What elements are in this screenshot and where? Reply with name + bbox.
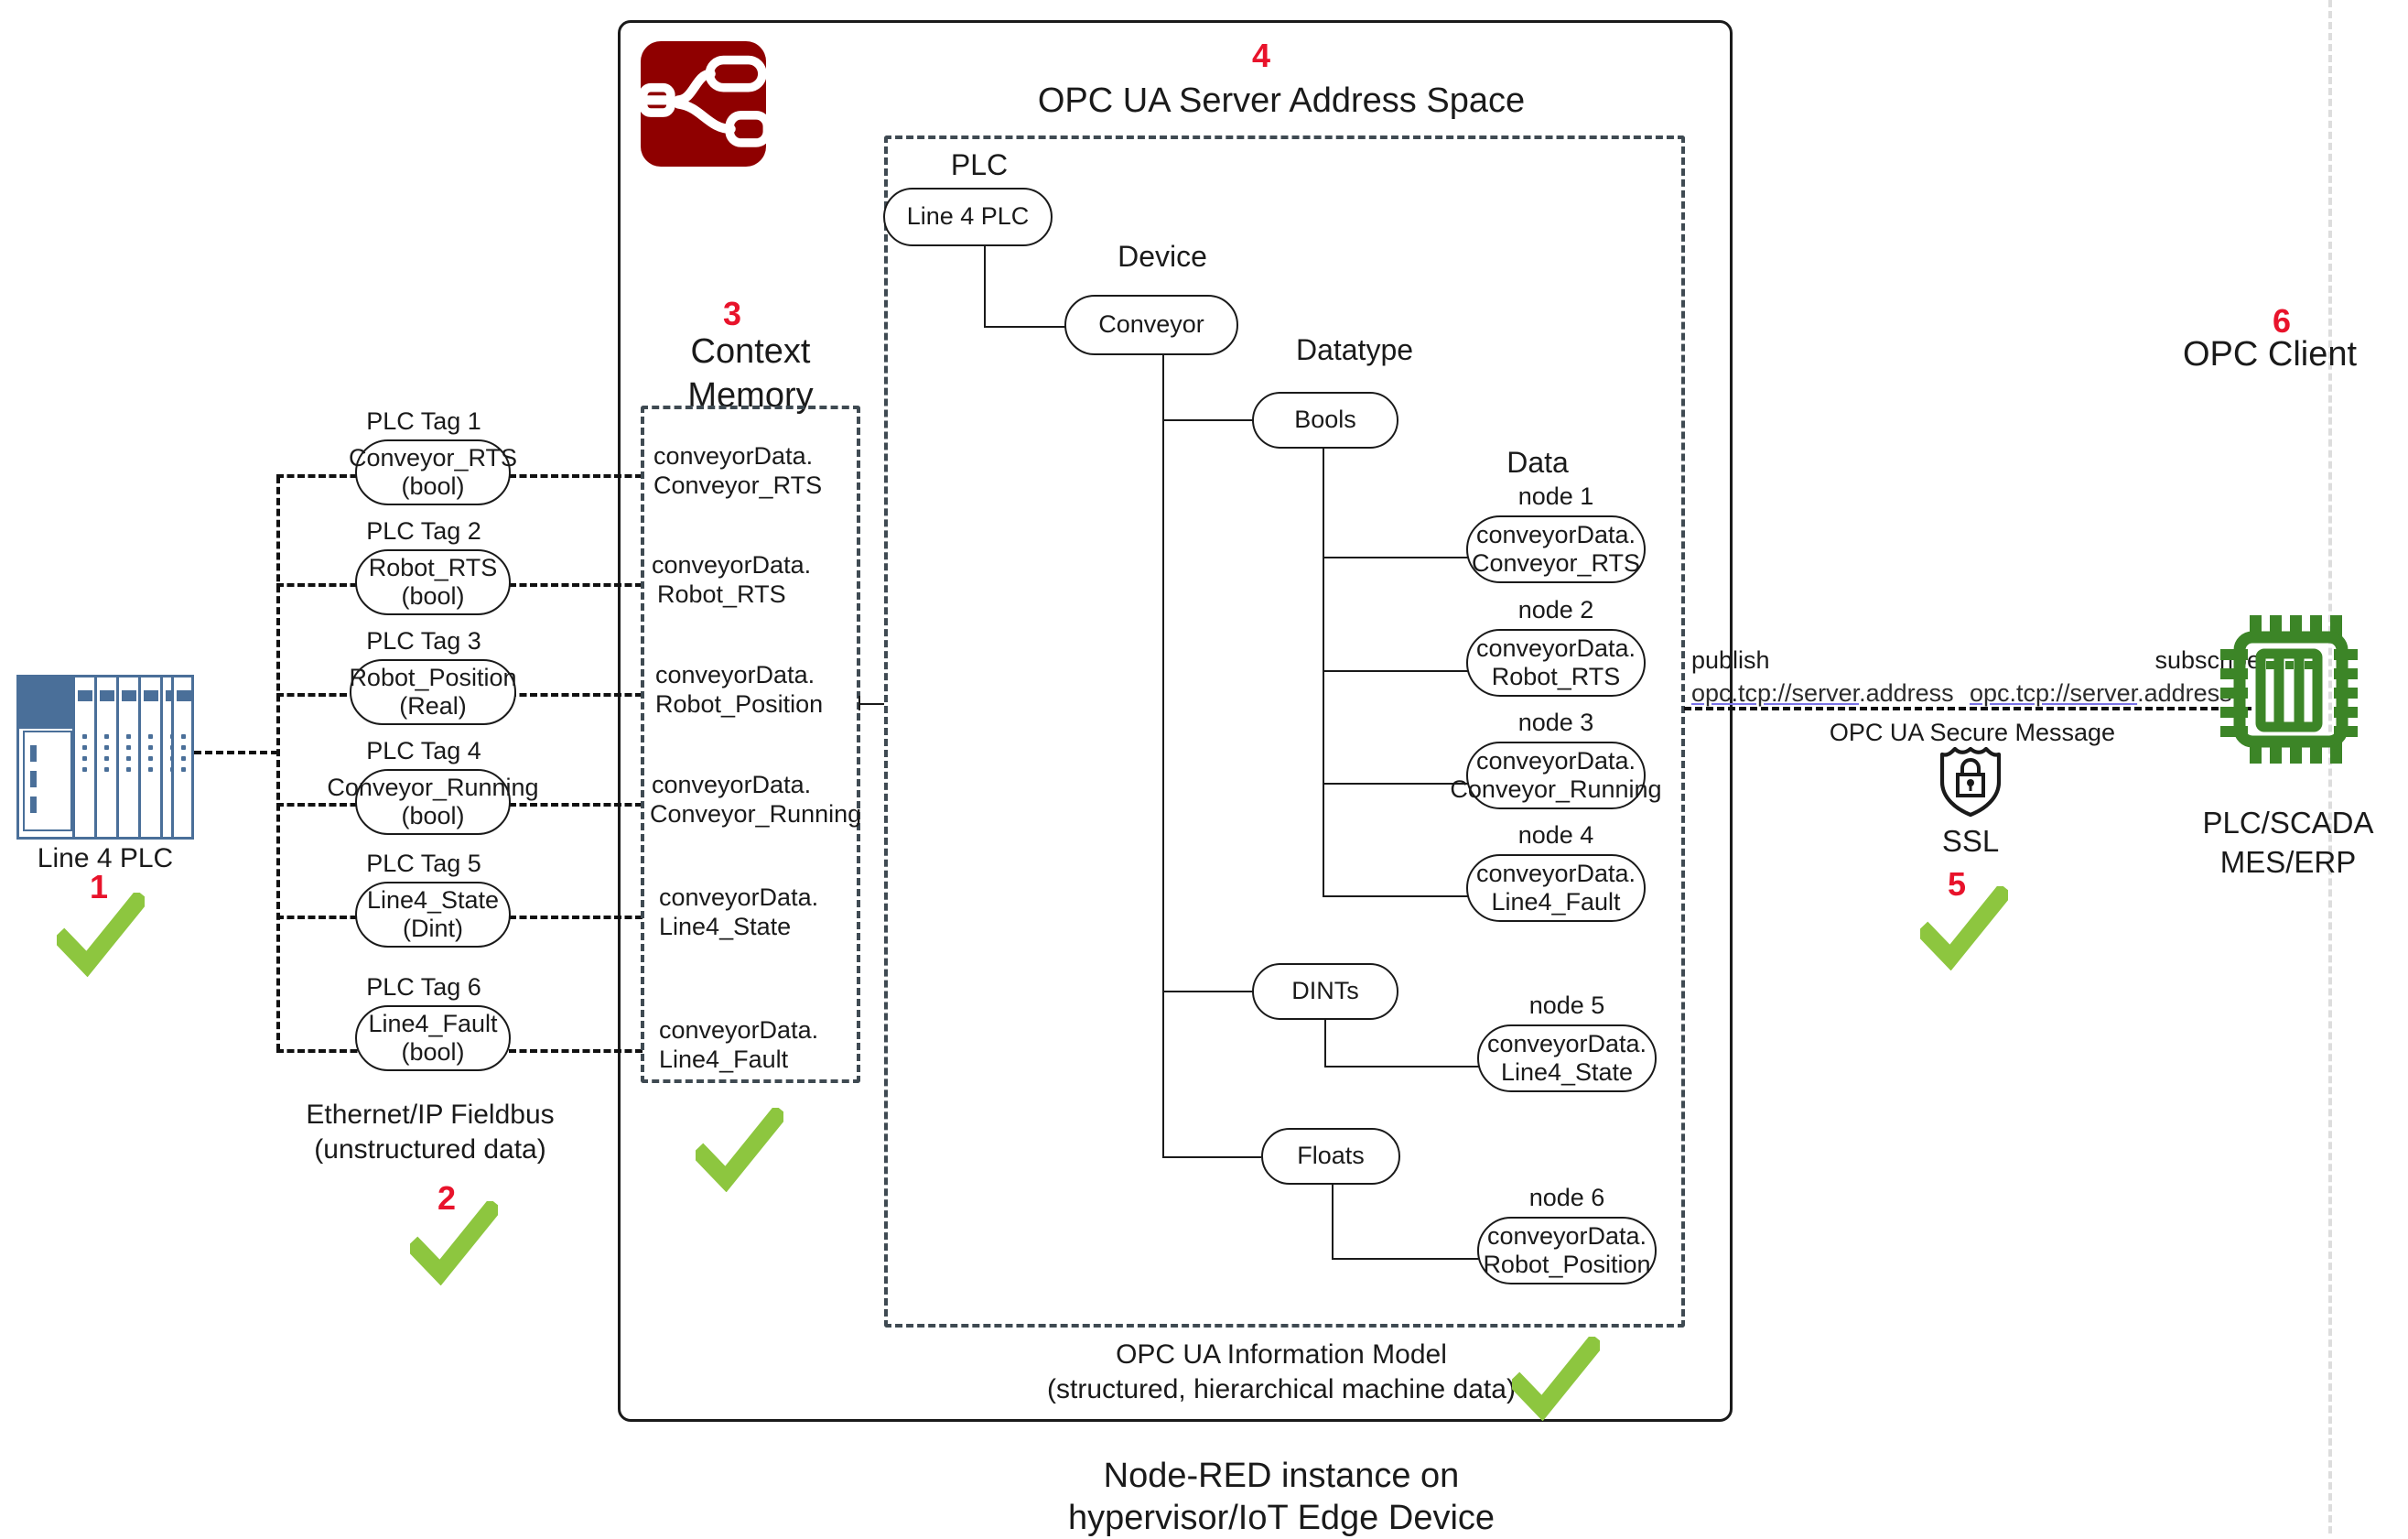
addr-node-plc[interactable]: Line 4 PLC	[883, 188, 1053, 246]
ctx-entry-2-line1: conveyorData.	[641, 551, 866, 580]
node-red-logo	[641, 41, 766, 167]
level-label-data: Data	[1455, 446, 1620, 481]
fieldbus-branch-1	[276, 474, 368, 478]
plc-tag-2-type: (bool)	[401, 582, 464, 611]
plc-tag-6-type: (bool)	[401, 1038, 464, 1067]
container-caption-line1: Node-RED instance on	[915, 1456, 1647, 1497]
plc-to-device-vline	[984, 246, 986, 327]
ctx-entry-5-line2: Line4_State	[641, 913, 873, 942]
subscribe-url[interactable]: opc.tcp://server.address	[1970, 679, 2262, 709]
tag5-to-ctx-line	[509, 916, 642, 919]
data-node-3-line1: conveyorData.	[1476, 747, 1636, 775]
ctx-to-addrspace-tick	[858, 696, 860, 710]
step-number-3: 3	[723, 295, 741, 333]
data-node-1-line1: conveyorData.	[1476, 521, 1636, 549]
plc-to-bus-line	[194, 751, 278, 754]
plc-tag-5-name: Line4_State	[367, 886, 499, 915]
publish-url-tail: .address	[1859, 679, 1954, 707]
address-space-title: OPC UA Server Address Space	[915, 81, 1647, 122]
plc-tag-2-node[interactable]: Robot_RTS (bool)	[355, 549, 511, 615]
subscribe-url-tail: .address	[2137, 679, 2232, 707]
tag1-to-ctx-line	[509, 474, 642, 478]
plc-tag-6-name: Line4_Fault	[368, 1010, 497, 1038]
dints-vline	[1324, 1020, 1326, 1068]
data-node-5-line1: conveyorData.	[1487, 1030, 1647, 1058]
data-node-2-line2: Robot_RTS	[1492, 663, 1621, 691]
plc-tag-4-name: Conveyor_Running	[327, 774, 538, 802]
addr-node-floats[interactable]: Floats	[1261, 1128, 1400, 1185]
client-caption-line2: MES/ERP	[2160, 845, 2408, 881]
ctx-entry-1-line1: conveyorData.	[641, 442, 868, 471]
ctx-entry-6-line2: Line4_Fault	[641, 1046, 873, 1075]
addr-node-bools[interactable]: Bools	[1252, 392, 1398, 449]
check-mark-3	[696, 1108, 783, 1197]
check-mark-2	[410, 1201, 498, 1290]
bools-trunk-vline	[1323, 449, 1324, 897]
ssl-label: SSL	[1893, 824, 2048, 860]
fieldbus-trunk	[276, 476, 280, 1051]
bools-to-node1-hline	[1323, 557, 1469, 558]
client-caption-line1: PLC/SCADA	[2160, 806, 2408, 841]
plc-tag-4-node[interactable]: Conveyor_Running (bool)	[355, 769, 511, 835]
plc-rack-icon	[16, 675, 194, 840]
data-node-3-line2: Conveyor_Running	[1450, 775, 1661, 804]
publish-url-link: opc.tcp://server	[1691, 679, 1859, 707]
ssl-shield-lock-icon	[1937, 742, 2004, 818]
addr-node-device[interactable]: Conveyor	[1064, 295, 1238, 355]
plc-tag-2-name: Robot_RTS	[369, 554, 498, 582]
data-node-6-caption: node 6	[1475, 1184, 1658, 1213]
data-node-4-caption: node 4	[1464, 821, 1647, 851]
ctx-entry-3-line1: conveyorData.	[641, 661, 869, 690]
plc-tag-3-node[interactable]: Robot_Position (Real)	[350, 659, 516, 725]
check-mark-5	[1920, 886, 2008, 975]
publish-label: publish	[1691, 646, 1874, 676]
data-node-3[interactable]: conveyorData. Conveyor_Running	[1466, 742, 1646, 809]
fieldbus-caption-line2: (unstructured data)	[275, 1133, 586, 1165]
opc-client-title: OPC Client	[2133, 334, 2407, 375]
fieldbus-branch-6	[276, 1049, 368, 1053]
data-node-2-line1: conveyorData.	[1476, 634, 1636, 663]
step-number-4: 4	[1252, 37, 1270, 75]
bools-to-node3-hline	[1323, 783, 1469, 785]
cpu-chip-icon	[2220, 615, 2358, 764]
ctx-entry-6-line1: conveyorData.	[641, 1016, 873, 1046]
addr-node-dints[interactable]: DINTs	[1252, 963, 1398, 1020]
bools-to-node4-hline	[1323, 895, 1469, 897]
plc-tag-5-type: (Dint)	[403, 915, 463, 943]
plc-tag-4-caption: PLC Tag 4	[339, 737, 509, 766]
ctx-to-addrspace-line	[858, 703, 884, 705]
data-node-1-line2: Conveyor_RTS	[1472, 549, 1640, 578]
fieldbus-branch-4	[276, 803, 368, 807]
tag3-to-ctx-line	[509, 693, 642, 697]
data-node-6[interactable]: conveyorData. Robot_Position	[1477, 1217, 1657, 1284]
data-node-3-caption: node 3	[1464, 709, 1647, 738]
device-trunk-vline	[1162, 355, 1164, 1157]
data-node-5-caption: node 5	[1475, 992, 1658, 1021]
plc-tag-5-node[interactable]: Line4_State (Dint)	[355, 882, 511, 948]
check-mark-1	[57, 893, 145, 981]
level-label-datatype: Datatype	[1263, 333, 1446, 368]
fieldbus-branch-2	[276, 583, 368, 587]
tag2-to-ctx-line	[509, 583, 642, 587]
page-edge-divider	[2328, 0, 2332, 1534]
dints-to-node5-hline	[1324, 1066, 1480, 1068]
data-node-6-line2: Robot_Position	[1483, 1251, 1650, 1279]
ctx-entry-2-line2: Robot_RTS	[641, 580, 871, 610]
plc-tag-5-caption: PLC Tag 5	[339, 850, 509, 879]
plc-tag-2-caption: PLC Tag 2	[339, 517, 509, 547]
plc-tag-1-node[interactable]: Conveyor_RTS (bool)	[355, 439, 511, 505]
data-node-1[interactable]: conveyorData. Conveyor_RTS	[1466, 515, 1646, 583]
plc-tag-1-caption: PLC Tag 1	[339, 407, 509, 437]
ctx-entry-5-line1: conveyorData.	[641, 883, 873, 913]
data-node-1-caption: node 1	[1464, 482, 1647, 512]
plc-tag-4-type: (bool)	[401, 802, 464, 830]
ctx-entry-1-line2: Conveyor_RTS	[641, 471, 868, 501]
floats-to-node6-hline	[1332, 1258, 1480, 1260]
plc-tag-6-node[interactable]: Line4_Fault (bool)	[355, 1005, 511, 1071]
fieldbus-caption-line1: Ethernet/IP Fieldbus	[275, 1099, 586, 1131]
device-to-bools-hline	[1162, 419, 1254, 421]
plc-tag-6-caption: PLC Tag 6	[339, 973, 509, 1003]
bools-to-node2-hline	[1323, 670, 1469, 672]
context-memory-title-line1: Context	[641, 331, 860, 373]
data-node-5-line2: Line4_State	[1501, 1058, 1633, 1087]
device-to-dints-hline	[1162, 991, 1254, 992]
data-node-5[interactable]: conveyorData. Line4_State	[1477, 1024, 1657, 1092]
publish-url[interactable]: opc.tcp://server.address	[1691, 679, 1984, 709]
plc-tag-1-type: (bool)	[401, 472, 464, 501]
floats-vline	[1332, 1185, 1334, 1260]
tag6-to-ctx-line	[509, 1049, 642, 1053]
plc-tag-1-name: Conveyor_RTS	[349, 444, 517, 472]
plc-to-device-hline	[984, 326, 1066, 328]
data-node-6-line1: conveyorData.	[1487, 1222, 1647, 1251]
check-mark-4	[1512, 1337, 1600, 1425]
data-node-2-caption: node 2	[1464, 596, 1647, 625]
ctx-entry-4-line1: conveyorData.	[641, 771, 871, 800]
subscribe-url-link: opc.tcp://server	[1970, 679, 2137, 707]
fieldbus-branch-5	[276, 916, 368, 919]
level-label-device: Device	[1080, 240, 1245, 275]
plc-tag-3-caption: PLC Tag 3	[339, 627, 509, 656]
data-node-4-line1: conveyorData.	[1476, 860, 1636, 888]
ctx-entry-3-line2: Robot_Position	[641, 690, 869, 720]
device-to-floats-hline	[1162, 1156, 1261, 1158]
data-node-2[interactable]: conveyorData. Robot_RTS	[1466, 629, 1646, 697]
plc-tag-3-type: (Real)	[399, 692, 467, 721]
level-label-plc: PLC	[906, 148, 1053, 183]
container-caption-line2: hypervisor/IoT Edge Device	[915, 1498, 1647, 1539]
context-memory-box	[641, 406, 860, 1083]
plc-tag-3-name: Robot_Position	[349, 664, 516, 692]
data-node-4-line2: Line4_Fault	[1491, 888, 1620, 916]
tag4-to-ctx-line	[509, 803, 642, 807]
data-node-4[interactable]: conveyorData. Line4_Fault	[1466, 854, 1646, 922]
ctx-entry-4-line2: Conveyor_Running	[641, 800, 877, 829]
